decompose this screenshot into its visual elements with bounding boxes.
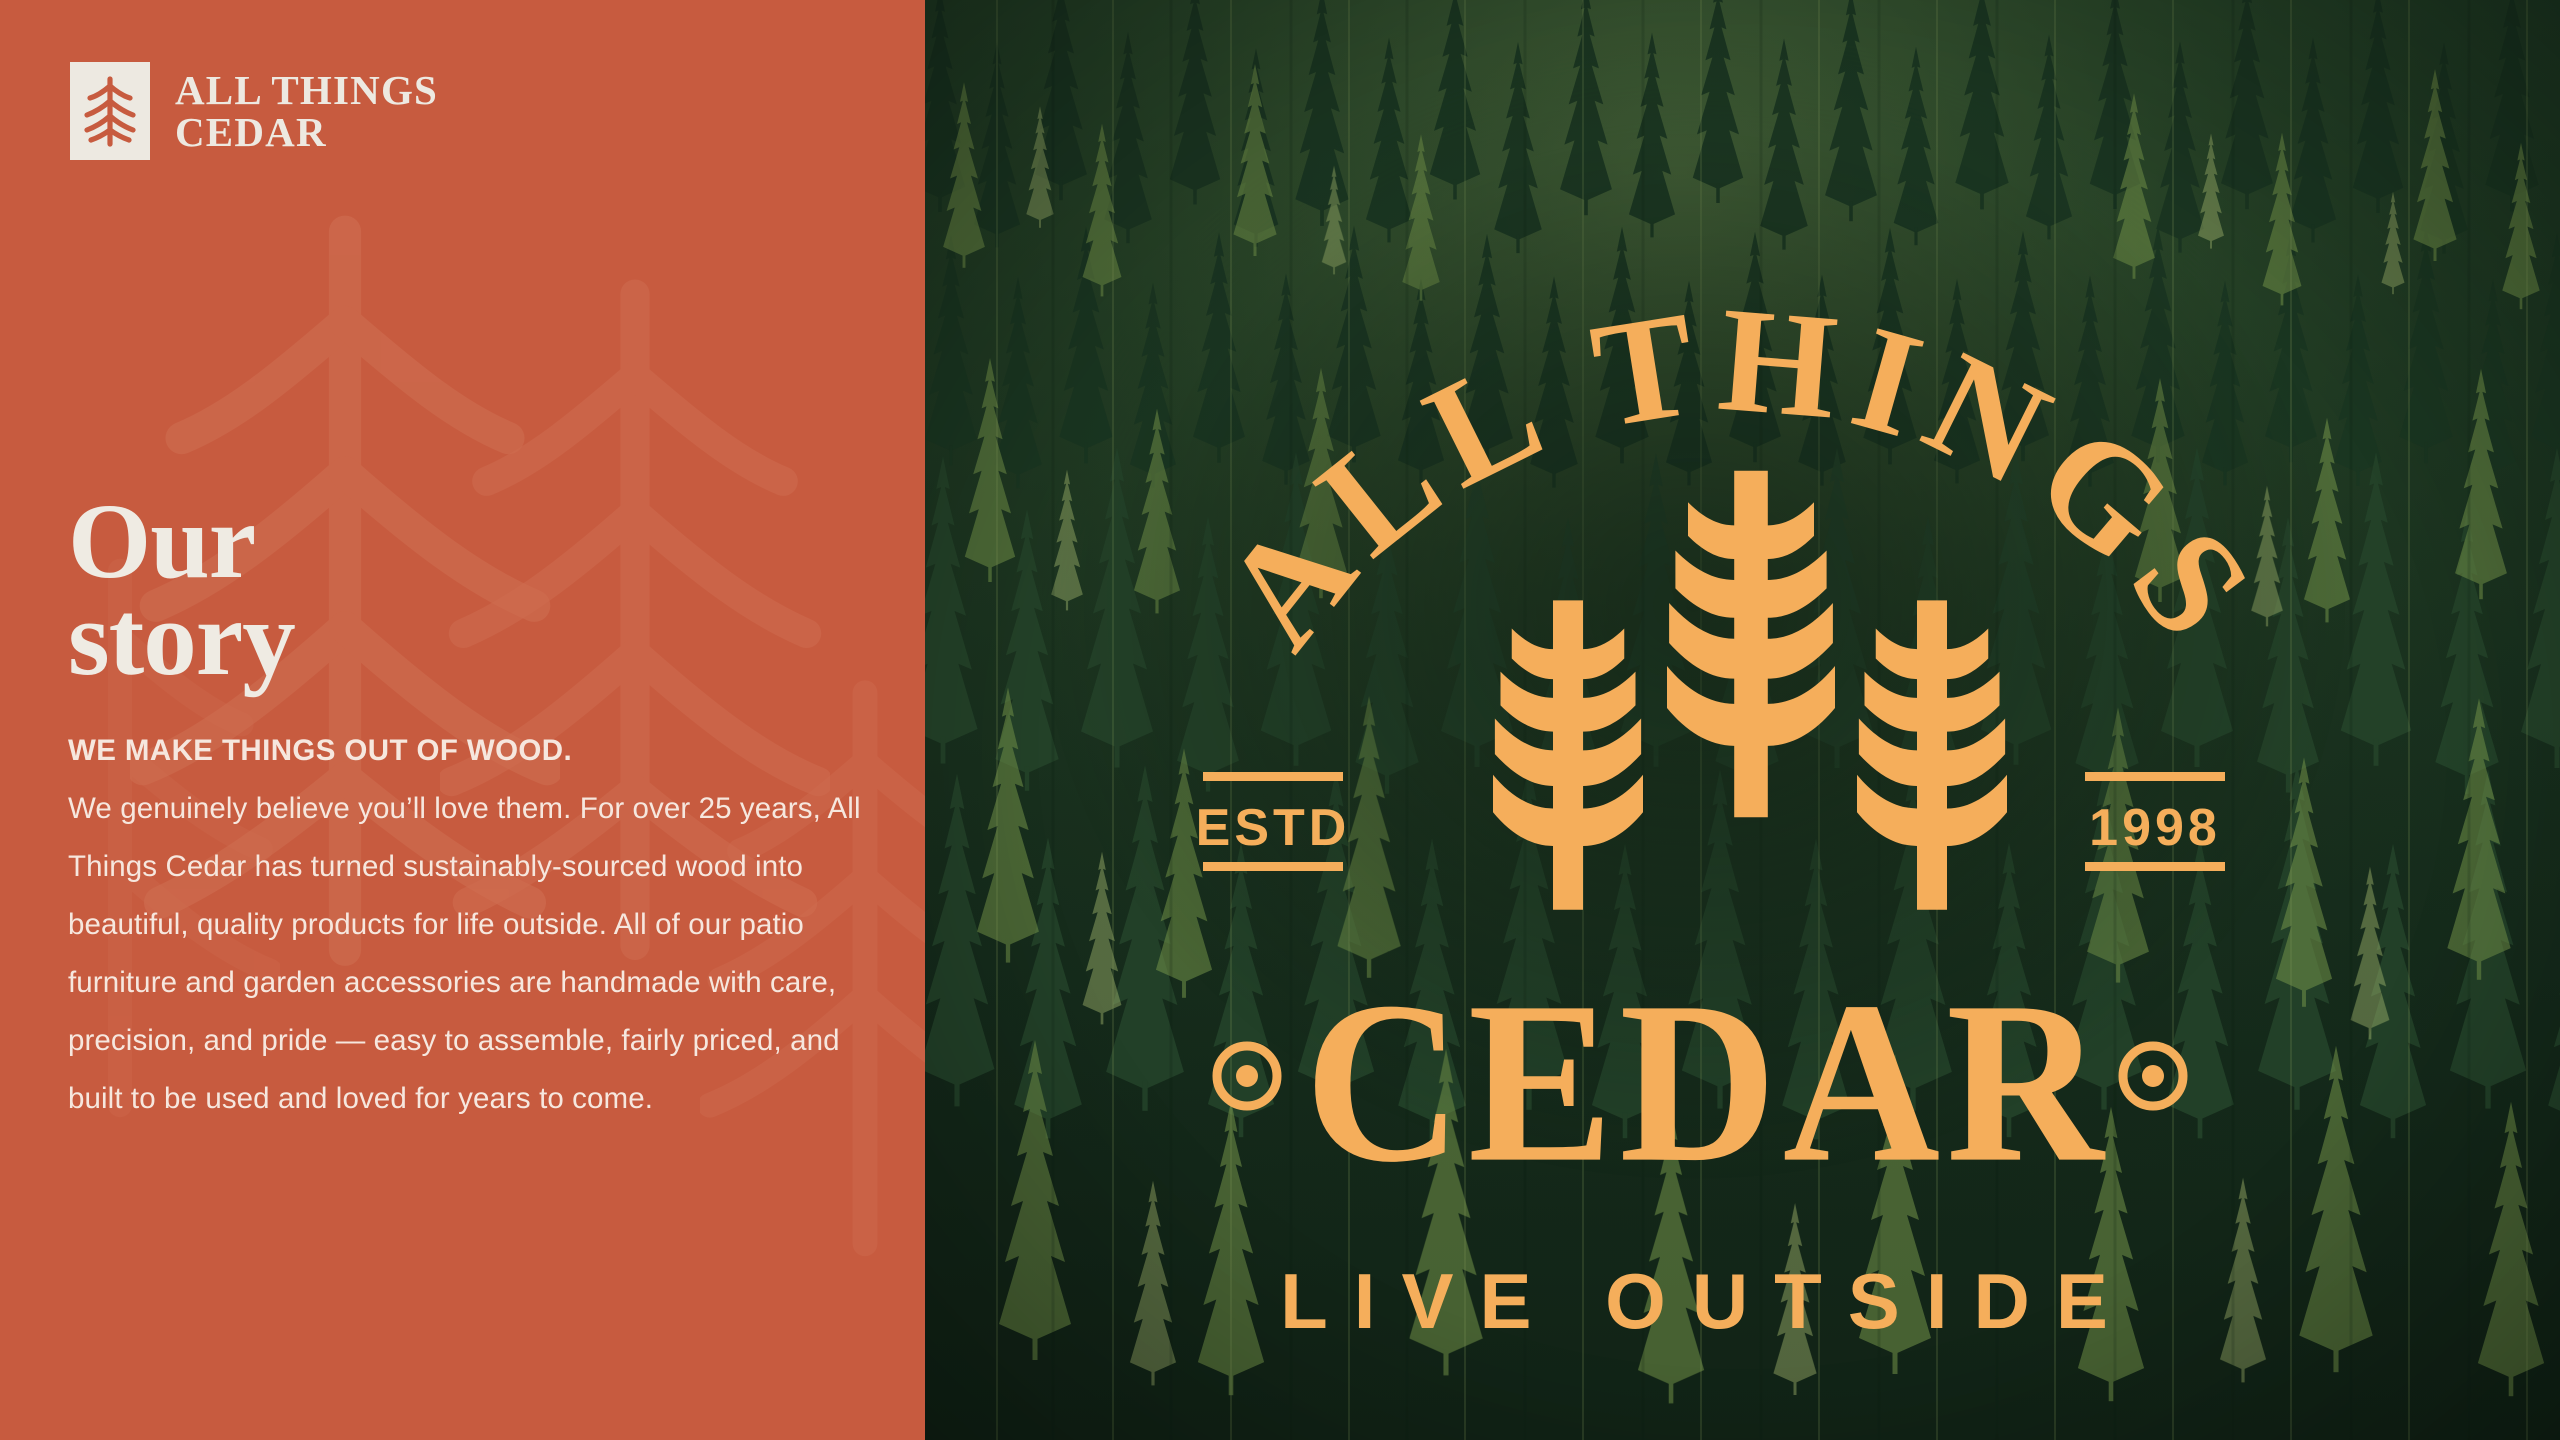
brand-story-banner: ALL THINGS CEDAR Our story WE MAKE THING…	[0, 0, 2560, 1440]
conifer-forest-photograph	[925, 0, 2560, 1440]
story-copy: WE MAKE THINGS OUT OF WOOD. We genuinely…	[68, 722, 868, 1128]
forest-photo-panel: ALL THINGS ESTD 1998	[925, 0, 2560, 1440]
page-title: Our story	[68, 494, 295, 689]
brand-logo[interactable]: ALL THINGS CEDAR	[70, 62, 438, 160]
brand-wordmark: ALL THINGS CEDAR	[175, 69, 438, 153]
cedar-tree-icon	[70, 62, 150, 160]
story-paragraph: We genuinely believe you’ll love them. F…	[68, 780, 868, 1128]
story-panel: ALL THINGS CEDAR Our story WE MAKE THING…	[0, 0, 925, 1440]
story-lead: WE MAKE THINGS OUT OF WOOD.	[68, 722, 868, 780]
